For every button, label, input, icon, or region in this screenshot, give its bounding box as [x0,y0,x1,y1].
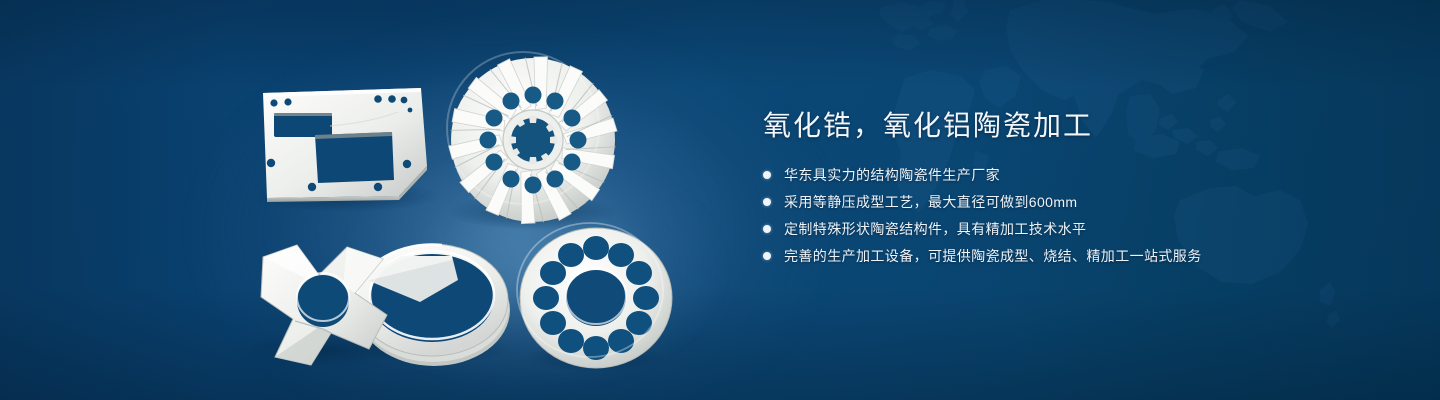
bullet-dot-icon [763,252,771,260]
bullet-dot-icon [763,171,771,179]
bullet-dot-icon [763,225,771,233]
list-item-label: 完善的生产加工设备，可提供陶瓷成型、烧结、精加工一站式服务 [784,248,1202,264]
feature-list: 华东具实力的结构陶瓷件生产厂家 采用等静压成型工艺，最大直径可做到600mm 定… [763,165,1383,266]
ceramic-flat-plate [263,88,427,202]
banner-copy: 氧化锆，氧化铝陶瓷加工 华东具实力的结构陶瓷件生产厂家 采用等静压成型工艺，最大… [763,108,1383,273]
promo-banner: 氧化锆，氧化铝陶瓷加工 华东具实力的结构陶瓷件生产厂家 采用等静压成型工艺，最大… [0,0,1440,400]
bullet-dot-icon [763,198,771,206]
list-item: 定制特殊形状陶瓷结构件，具有精加工技术水平 [763,219,1383,239]
list-item-label: 华东具实力的结构陶瓷件生产厂家 [784,167,1000,183]
list-item: 华东具实力的结构陶瓷件生产厂家 [763,165,1383,185]
ceramic-perforated-disc [517,223,672,368]
ceramic-products-image [0,0,760,400]
list-item-label: 采用等静压成型工艺，最大直径可做到600mm [784,194,1077,210]
page-title: 氧化锆，氧化铝陶瓷加工 [763,108,1383,143]
list-item: 采用等静压成型工艺，最大直径可做到600mm [763,192,1383,212]
list-item: 完善的生产加工设备，可提供陶瓷成型、烧结、精加工一站式服务 [763,246,1383,266]
list-item-label: 定制特殊形状陶瓷结构件，具有精加工技术水平 [784,221,1086,237]
